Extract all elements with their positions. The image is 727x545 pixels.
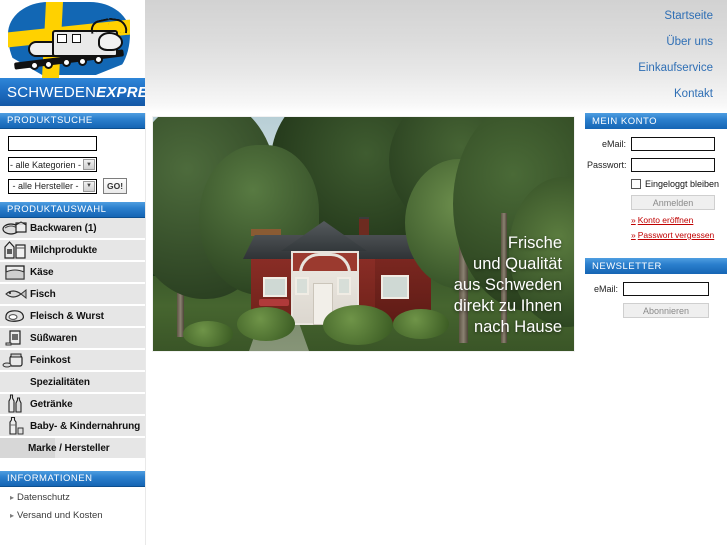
milk-carton-icon (0, 240, 30, 260)
sidebar-item-label: Fisch (30, 289, 56, 300)
nav-item-kontakt[interactable]: Kontakt (417, 82, 717, 108)
sidebar-item-getraenke[interactable]: Getränke (0, 394, 145, 416)
sidebar-item-fleisch-wurst[interactable]: Fleisch & Wurst (0, 306, 145, 328)
chimney (359, 217, 369, 237)
informationen-panel: INFORMATIONEN ▸Datenschutz ▸Versand und … (0, 471, 145, 523)
manufacturer-select[interactable]: - alle Hersteller - ▼ (8, 179, 97, 194)
sidebar-item-fisch[interactable]: Fisch (0, 284, 145, 306)
sidebar-item-marke-hersteller[interactable]: Marke / Hersteller (0, 438, 145, 460)
bush (393, 309, 449, 339)
category-list: Backwaren (1) Milchprodukte Käse Fisch (0, 218, 145, 460)
logo-wordmark: SCHWEDENEXPRESS (0, 78, 145, 106)
sidebar-item-kaese[interactable]: Käse (0, 262, 145, 284)
newsletter-email-label: eMail: (587, 284, 623, 294)
search-input[interactable] (8, 136, 97, 151)
nav-item-ueber-uns[interactable]: Über uns (417, 30, 717, 56)
sidebar-item-milchprodukte[interactable]: Milchprodukte (0, 240, 145, 262)
stay-logged-in-checkbox[interactable] (631, 179, 641, 189)
right-column: MEIN KONTO eMail: Passwort: Eingeloggt b… (585, 113, 727, 324)
create-account-label: Konto eröffnen (638, 215, 694, 225)
sidebar-item-label: Fleisch & Wurst (30, 311, 104, 322)
produktsuche-panel-header: PRODUKTSUCHE (0, 113, 145, 129)
flower-box (251, 229, 281, 236)
bush (237, 307, 295, 341)
forgot-password-label: Passwort vergessen (638, 230, 715, 240)
account-password-input[interactable] (631, 158, 715, 172)
info-link-datenschutz[interactable]: ▸Datenschutz (0, 487, 145, 505)
sidebar-item-spezialitaeten[interactable]: Spezialitäten (0, 372, 145, 394)
sidebar-item-backwaren[interactable]: Backwaren (1) (0, 218, 145, 240)
produktsuche-panel: - alle Kategorien - ▼ - alle Hersteller … (0, 129, 145, 202)
hero-line: nach Hause (454, 317, 562, 338)
baby-bottle-icon (0, 416, 30, 436)
fish-icon (0, 284, 30, 304)
newsletter-panel-header: NEWSLETTER (585, 258, 727, 274)
stay-logged-in-label: Eingeloggt bleiben (645, 179, 719, 189)
sidebar-item-label: Milchprodukte (30, 245, 97, 256)
newsletter-panel: NEWSLETTER eMail: Abonnieren (585, 258, 727, 324)
left-sidebar: PRODUKTSUCHE - alle Kategorien - ▼ - all… (0, 113, 146, 545)
sausage-icon (0, 306, 30, 326)
mein-konto-panel-header: MEIN KONTO (585, 113, 727, 129)
sidebar-item-label: Spezialitäten (0, 377, 90, 388)
manufacturer-select-value: - alle Hersteller - (12, 181, 78, 191)
login-button[interactable]: Anmelden (631, 195, 715, 210)
bottles-icon (0, 394, 30, 414)
sidebar-item-label: Baby- & Kindernahrung (30, 421, 140, 432)
create-account-link[interactable]: »Konto eröffnen (631, 215, 721, 225)
stay-logged-in-row[interactable]: Eingeloggt bleiben (631, 179, 721, 189)
hero-line: und Qualität (454, 254, 562, 275)
sidebar-item-label: Getränke (30, 399, 73, 410)
train-wheel-icon (30, 61, 39, 70)
hero-line: Frische (454, 233, 562, 254)
hero-banner: Frische und Qualität aus Schweden direkt… (152, 116, 575, 352)
chevron-right-icon: ▸ (10, 511, 14, 520)
train-wheel-icon (62, 58, 71, 67)
logo-word-schweden: SCHWEDEN (7, 84, 96, 101)
search-go-button[interactable]: GO! (103, 178, 127, 194)
mein-konto-panel: MEIN KONTO eMail: Passwort: Eingeloggt b… (585, 113, 727, 246)
bread-icon (0, 218, 30, 238)
bush (183, 321, 233, 347)
moose-head-icon (98, 32, 123, 51)
bush (323, 305, 393, 345)
sidebar-item-feinkost[interactable]: Feinkost (0, 350, 145, 372)
sidebar-item-label: Marke / Hersteller (0, 443, 110, 454)
info-link-versand-und-kosten[interactable]: ▸Versand und Kosten (0, 505, 145, 523)
sidebar-item-baby-kindernahrung[interactable]: Baby- & Kindernahrung (0, 416, 145, 438)
logo-word-express: EXPRESS (96, 84, 145, 101)
train-window-icon (57, 34, 67, 43)
hero-tagline: Frische und Qualität aus Schweden direkt… (454, 233, 562, 338)
sidebar-item-label: Feinkost (30, 355, 70, 366)
top-navigation: Startseite Über uns Einkaufservice Konta… (417, 4, 717, 108)
category-select-value: - alle Kategorien - (10, 160, 81, 170)
cheese-icon (0, 262, 30, 282)
train-wheel-icon (78, 57, 87, 66)
newsletter-subscribe-button[interactable]: Abonnieren (623, 303, 709, 318)
category-select[interactable]: - alle Kategorien - ▼ (8, 157, 97, 172)
cottage-window (381, 275, 409, 299)
chevron-down-icon: ▼ (83, 181, 95, 192)
site-header: SCHWEDENEXPRESS Startseite Über uns Eink… (0, 0, 727, 113)
info-link-label: Datenschutz (17, 492, 70, 503)
sidebar-item-label: Käse (30, 267, 54, 278)
sidebar-item-suesswaren[interactable]: Süßwaren (0, 328, 145, 350)
nav-item-einkaufservice[interactable]: Einkaufservice (417, 56, 717, 82)
forgot-password-link[interactable]: »Passwort vergessen (631, 230, 721, 240)
account-email-input[interactable] (631, 137, 715, 151)
site-logo[interactable]: SCHWEDENEXPRESS (0, 0, 145, 106)
hero-line: direkt zu Ihnen (454, 296, 562, 317)
hero-line: aus Schweden (454, 275, 562, 296)
train-window-icon (72, 34, 81, 43)
produktauswahl-panel-header: PRODUKTAUSWAHL (0, 202, 145, 218)
info-link-label: Versand und Kosten (17, 510, 103, 521)
candy-icon (0, 328, 30, 348)
nav-item-startseite[interactable]: Startseite (417, 4, 717, 30)
jar-icon (0, 350, 30, 370)
double-arrow-icon: » (631, 230, 636, 240)
train-wheel-icon (94, 55, 103, 64)
double-arrow-icon: » (631, 215, 636, 225)
cottage-window (263, 277, 287, 297)
cottage-window (295, 277, 309, 295)
logo-illustration (0, 0, 145, 78)
account-password-label: Passwort: (587, 160, 631, 170)
sidebar-item-label: Backwaren (1) (30, 223, 97, 234)
train-wheel-icon (44, 60, 53, 69)
chevron-down-icon: ▼ (83, 159, 95, 170)
newsletter-email-input[interactable] (623, 282, 709, 296)
informationen-panel-header: INFORMATIONEN (0, 471, 145, 487)
account-email-label: eMail: (587, 139, 631, 149)
cottage-window (337, 277, 351, 295)
page-root: SCHWEDENEXPRESS Startseite Über uns Eink… (0, 0, 727, 545)
sidebar-item-label: Süßwaren (30, 333, 77, 344)
flower-box (259, 299, 289, 306)
chevron-right-icon: ▸ (10, 493, 14, 502)
